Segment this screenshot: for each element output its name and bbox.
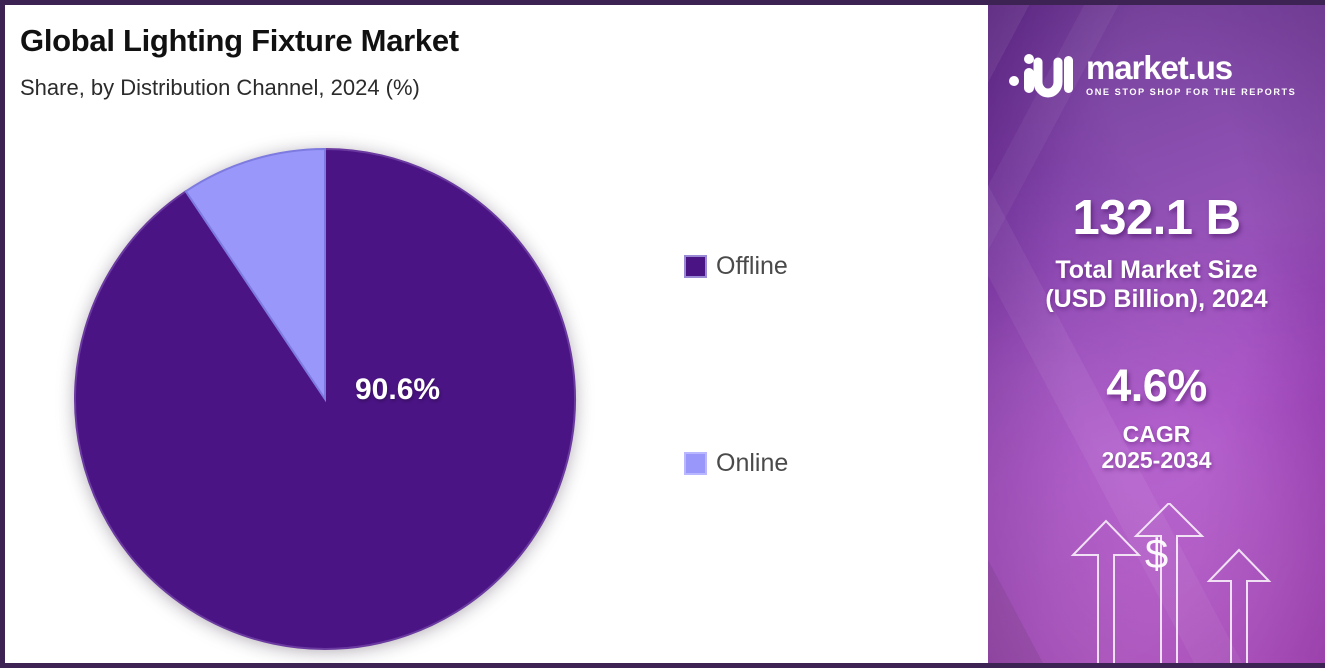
legend-swatch-offline: [684, 255, 707, 278]
stat-market-size-value: 132.1 B: [988, 193, 1325, 244]
legend-label-online: Online: [716, 451, 788, 476]
pie-chart: 90.6%: [69, 143, 581, 655]
brand-name: market.us: [1086, 51, 1296, 84]
pie-slices: [69, 143, 581, 655]
legend-label-offline: Offline: [716, 254, 788, 279]
legend-item-online[interactable]: Online: [684, 448, 934, 478]
stat-cagr-caption-line1: CAGR: [988, 421, 1325, 448]
stat-cagr-value: 4.6%: [988, 363, 1325, 410]
stat-cagr-caption-line2: 2025-2034: [988, 447, 1325, 474]
dollar-sign-icon: $: [988, 533, 1325, 575]
brand-logo-text: market.us ONE STOP SHOP FOR THE REPORTS: [1086, 51, 1296, 97]
pie-data-label-offline: 90.6%: [355, 373, 440, 407]
stat-market-size-caption-line2: (USD Billion), 2024: [988, 285, 1325, 314]
chart-panel: Global Lighting Fixture Market Share, by…: [5, 5, 988, 663]
stat-market-size-caption: Total Market Size (USD Billion), 2024: [988, 256, 1325, 314]
market-us-logo-mark-icon: [1008, 50, 1080, 98]
brand-panel: market.us ONE STOP SHOP FOR THE REPORTS …: [988, 5, 1325, 663]
page-subtitle: Share, by Distribution Channel, 2024 (%): [20, 75, 920, 101]
brand-logo[interactable]: market.us ONE STOP SHOP FOR THE REPORTS: [1008, 50, 1308, 98]
chart-legend: Offline Online: [684, 251, 934, 478]
stat-cagr-caption: CAGR 2025-2034: [988, 421, 1325, 474]
title-block: Global Lighting Fixture Market Share, by…: [20, 23, 920, 101]
stat-market-size: 132.1 B Total Market Size (USD Billion),…: [988, 193, 1325, 314]
growth-arrows-icon: [988, 503, 1325, 663]
page-title: Global Lighting Fixture Market: [20, 23, 920, 59]
legend-swatch-online: [684, 452, 707, 475]
stat-market-size-caption-line1: Total Market Size: [988, 256, 1325, 285]
infographic-root: Global Lighting Fixture Market Share, by…: [0, 0, 1325, 668]
stat-cagr: 4.6% CAGR 2025-2034: [988, 363, 1325, 474]
brand-tagline: ONE STOP SHOP FOR THE REPORTS: [1086, 88, 1296, 97]
legend-item-offline[interactable]: Offline: [684, 251, 934, 281]
